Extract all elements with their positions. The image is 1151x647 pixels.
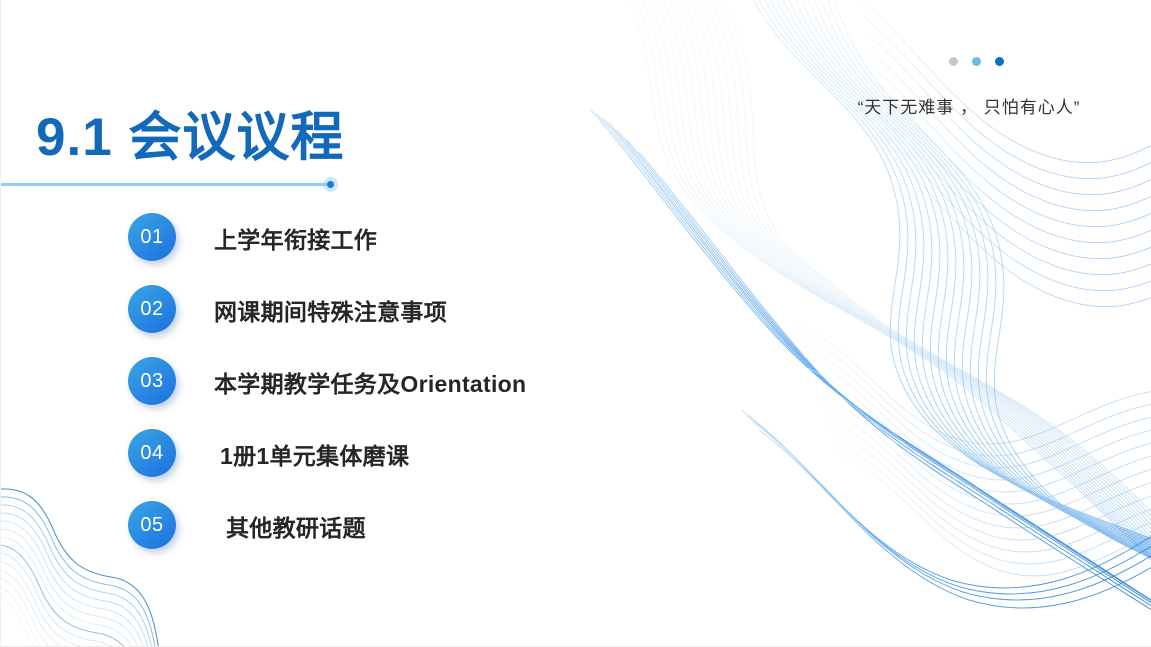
agenda-label-03: 本学期教学任务及Orientation bbox=[214, 365, 526, 399]
agenda-number-badge-05: 05 bbox=[128, 501, 176, 549]
agenda-number-03: 03 bbox=[140, 371, 163, 391]
agenda-label-04: 1册1单元集体磨课 bbox=[220, 437, 409, 471]
title-end-dot-icon bbox=[323, 177, 338, 192]
quote-block: “天下无难事 ， 只怕有心人” bbox=[819, 55, 1119, 118]
agenda-number-01: 01 bbox=[140, 227, 163, 247]
agenda-list: 01 上学年衔接工作 02 网课期间特殊注意事项 03 本学期教学任务及Orie… bbox=[128, 213, 598, 573]
agenda-number-05: 05 bbox=[140, 515, 163, 535]
agenda-item-01[interactable]: 01 上学年衔接工作 bbox=[128, 213, 598, 285]
quote-text: “天下无难事 ， 只怕有心人” bbox=[819, 93, 1119, 118]
agenda-number-04: 04 bbox=[140, 443, 163, 463]
agenda-label-05: 其他教研话题 bbox=[226, 509, 366, 543]
agenda-number-02: 02 bbox=[140, 299, 163, 319]
agenda-number-badge-04: 04 bbox=[128, 429, 176, 477]
quote-dots bbox=[819, 55, 1119, 67]
title-underline bbox=[1, 183, 331, 186]
title-block: 9.1 会议议程 bbox=[1, 108, 341, 191]
dot-light-blue-icon bbox=[972, 57, 981, 66]
dot-dark-blue-icon bbox=[995, 57, 1004, 66]
agenda-item-02[interactable]: 02 网课期间特殊注意事项 bbox=[128, 285, 598, 357]
page-title: 9.1 会议议程 bbox=[1, 108, 341, 167]
agenda-item-04[interactable]: 04 1册1单元集体磨课 bbox=[128, 429, 598, 501]
dot-gray-icon bbox=[949, 57, 958, 66]
agenda-label-02: 网课期间特殊注意事项 bbox=[214, 293, 447, 327]
agenda-number-badge-03: 03 bbox=[128, 357, 176, 405]
agenda-item-03[interactable]: 03 本学期教学任务及Orientation bbox=[128, 357, 598, 429]
agenda-number-badge-02: 02 bbox=[128, 285, 176, 333]
agenda-label-01: 上学年衔接工作 bbox=[214, 221, 377, 255]
agenda-number-badge-01: 01 bbox=[128, 213, 176, 261]
title-underline-row bbox=[1, 177, 341, 191]
slide-canvas: 9.1 会议议程 01 上学年衔接工作 02 网课期间特殊注意事项 03 本学期… bbox=[0, 0, 1151, 647]
agenda-item-05[interactable]: 05 其他教研话题 bbox=[128, 501, 598, 573]
